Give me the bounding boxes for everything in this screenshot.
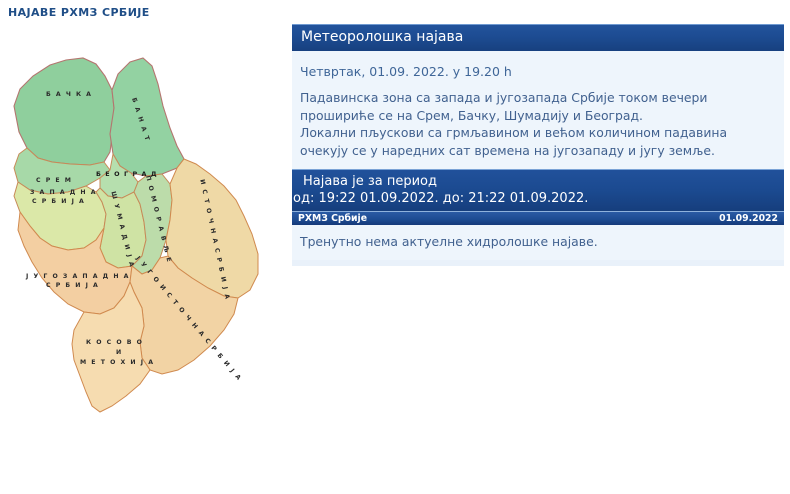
map-label-srem: С Р Е М [36,177,72,184]
map-label-backa: Б А Ч К А [46,91,92,98]
period-header: Најава је за период [292,173,784,190]
hydro-message: Тренутно нема актуелне хидролошке најаве… [292,225,784,260]
serbia-region-map: Б А Ч К А Б А Н А Т С Р Е М Б Е О Г Р А … [0,34,290,434]
period-range: од: 19:22 01.09.2022. до: 21:22 01.09.20… [292,190,784,207]
meteo-paragraph-1: Падавинска зона са запада и југозапада С… [300,89,774,124]
source-date: 01.09.2022 [719,212,778,225]
page-title: НАЈАВЕ РХМЗ СРБИЈЕ [8,6,150,19]
source-name: РХМЗ Србије [298,212,367,225]
period-block: Најава је за период од: 19:22 01.09.2022… [292,169,784,211]
panel-footer [292,260,784,266]
source-bar: РХМЗ Србије 01.09.2022 [292,211,784,225]
meteo-datetime: Четвртак, 01.09. 2022. у 19.20 h [292,60,784,87]
map-region-backa [14,58,114,165]
meteo-header: Метеоролошка најава [292,24,784,51]
header-spacer [292,51,784,60]
map-region-banat [110,58,184,176]
forecast-panel: Метеоролошка најава Четвртак, 01.09. 202… [292,24,784,266]
meteo-body: Падавинска зона са запада и југозапада С… [292,87,784,169]
meteo-paragraph-2: Локални пљускови са грмљавином и већом к… [300,124,774,159]
